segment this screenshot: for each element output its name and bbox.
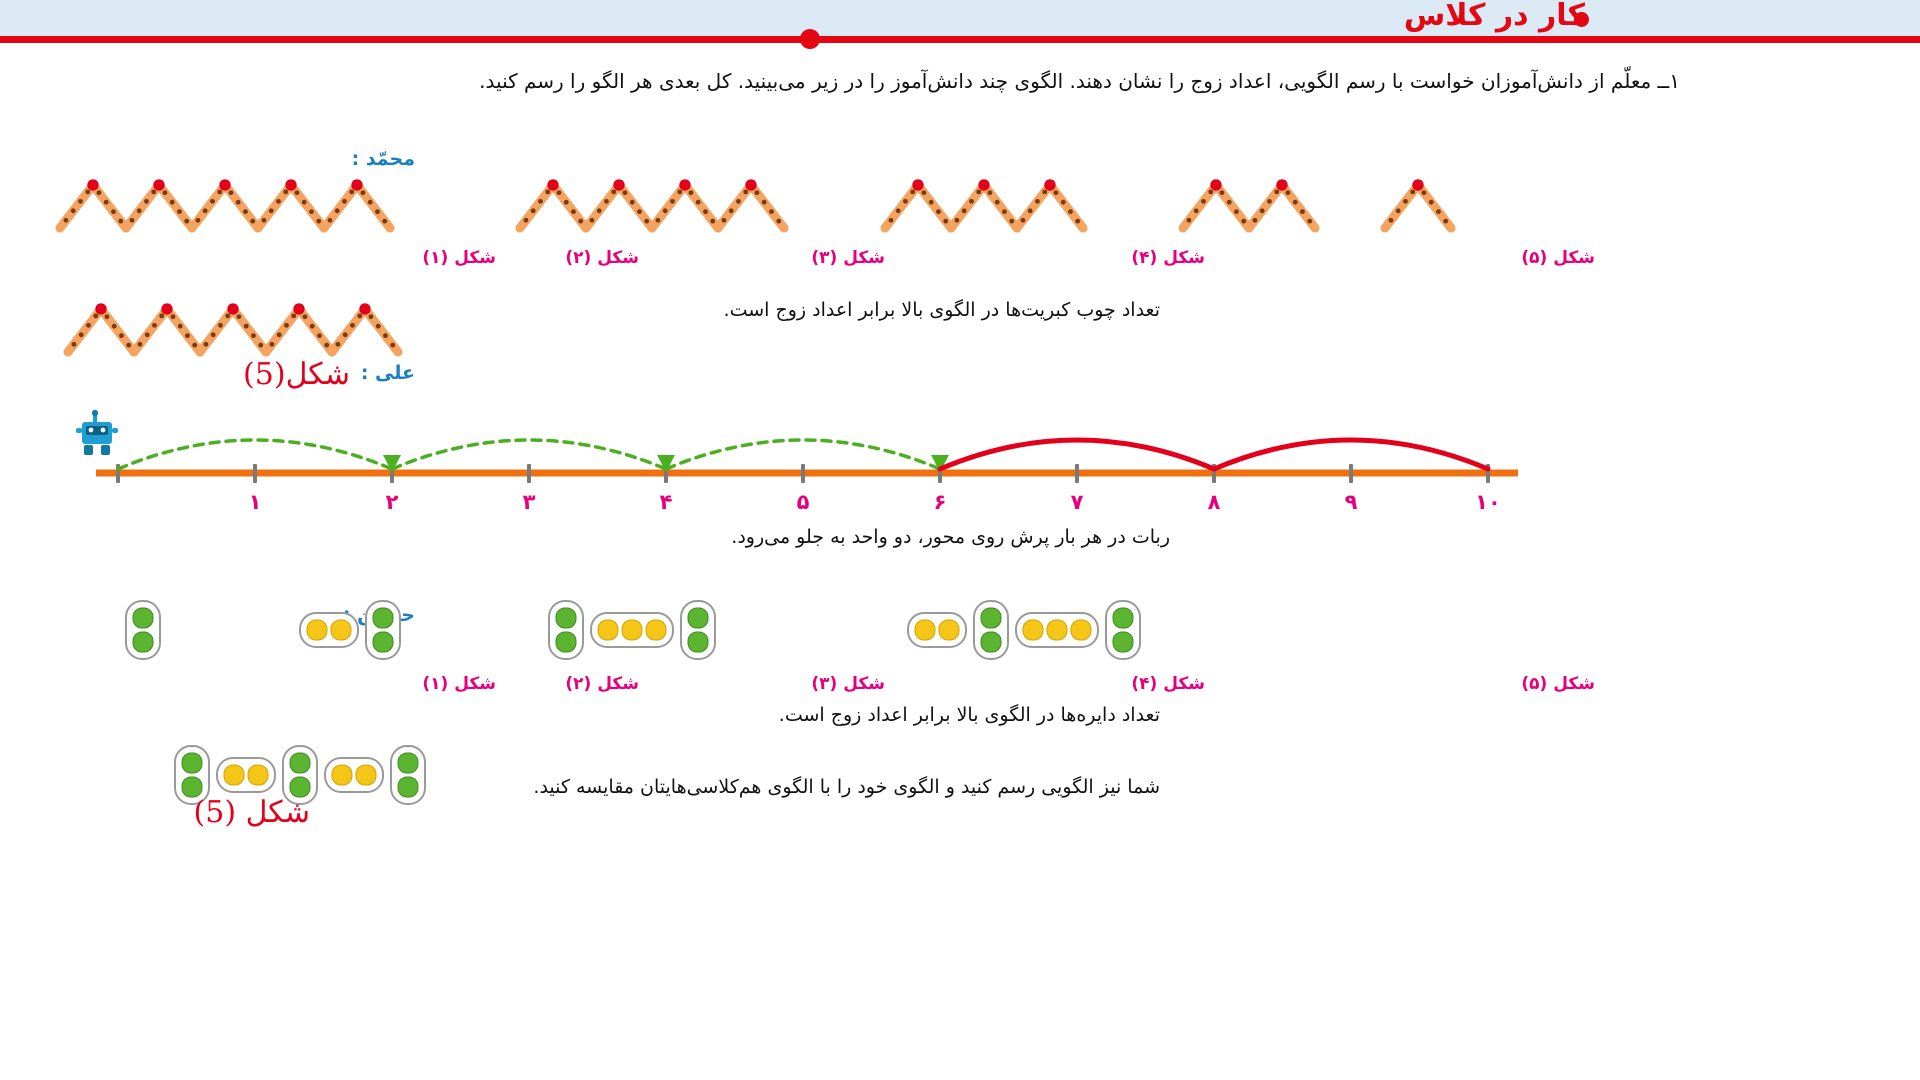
figure-caption-1: شکل (۱)	[422, 248, 496, 268]
figure-caption-c2: شکل (۲)	[565, 674, 639, 694]
svg-text:۹: ۹	[1345, 490, 1358, 514]
figure-caption-c1: شکل (۱)	[422, 674, 496, 694]
figure-caption-3: شکل (۳)	[811, 248, 885, 268]
question-1-text: ۱ــ معلّم از دانش‌آموزان خواست با رسم ال…	[325, 64, 1680, 98]
svg-text:۶: ۶	[934, 490, 947, 514]
figure-caption-2: شکل (۲)	[565, 248, 639, 268]
handwritten-caption-circles: شکل (5)	[194, 795, 310, 830]
svg-text:۳: ۳	[523, 490, 536, 514]
header-bullet-left-icon	[800, 29, 820, 49]
figure-caption-c3: شکل (۳)	[811, 674, 885, 694]
circles-note: تعداد دایره‌ها در الگوی بالا برابر اعداد…	[779, 700, 1160, 730]
figure-caption-5: شکل (۵)	[1521, 248, 1595, 268]
svg-text:۴: ۴	[660, 490, 673, 514]
robot-note: ربات در هر بار پرش روی محور، دو واحد به …	[731, 522, 1170, 552]
svg-text:۵: ۵	[797, 490, 810, 514]
header-rule	[0, 36, 1920, 43]
svg-text:۸: ۸	[1208, 490, 1221, 514]
figure-caption-c5: شکل (۵)	[1521, 674, 1595, 694]
svg-text:۱: ۱	[249, 490, 262, 514]
svg-text:۷: ۷	[1071, 490, 1084, 514]
matchstick-note: تعداد چوب کبریت‌ها در الگوی بالا برابر ا…	[724, 295, 1160, 325]
figure-caption-c4: شکل (۴)	[1131, 674, 1205, 694]
svg-text:۱۰: ۱۰	[1475, 490, 1501, 514]
student-label-ali: علی :	[361, 362, 415, 384]
figure-caption-4: شکل (۴)	[1131, 248, 1205, 268]
closing-note: شما نیز الگویی رسم کنید و الگوی خود را ب…	[533, 772, 1160, 802]
handwritten-caption-matchstick: شکل(5)	[243, 357, 350, 392]
page-title: کار در کلاس	[1404, 0, 1585, 33]
textbook-page: کار در کلاس ۱ــ معلّم از دانش‌آموزان خوا…	[0, 0, 1920, 1080]
header-band	[0, 0, 1920, 38]
svg-text:۲: ۲	[386, 490, 399, 514]
circle-pattern-figures	[0, 585, 1920, 705]
